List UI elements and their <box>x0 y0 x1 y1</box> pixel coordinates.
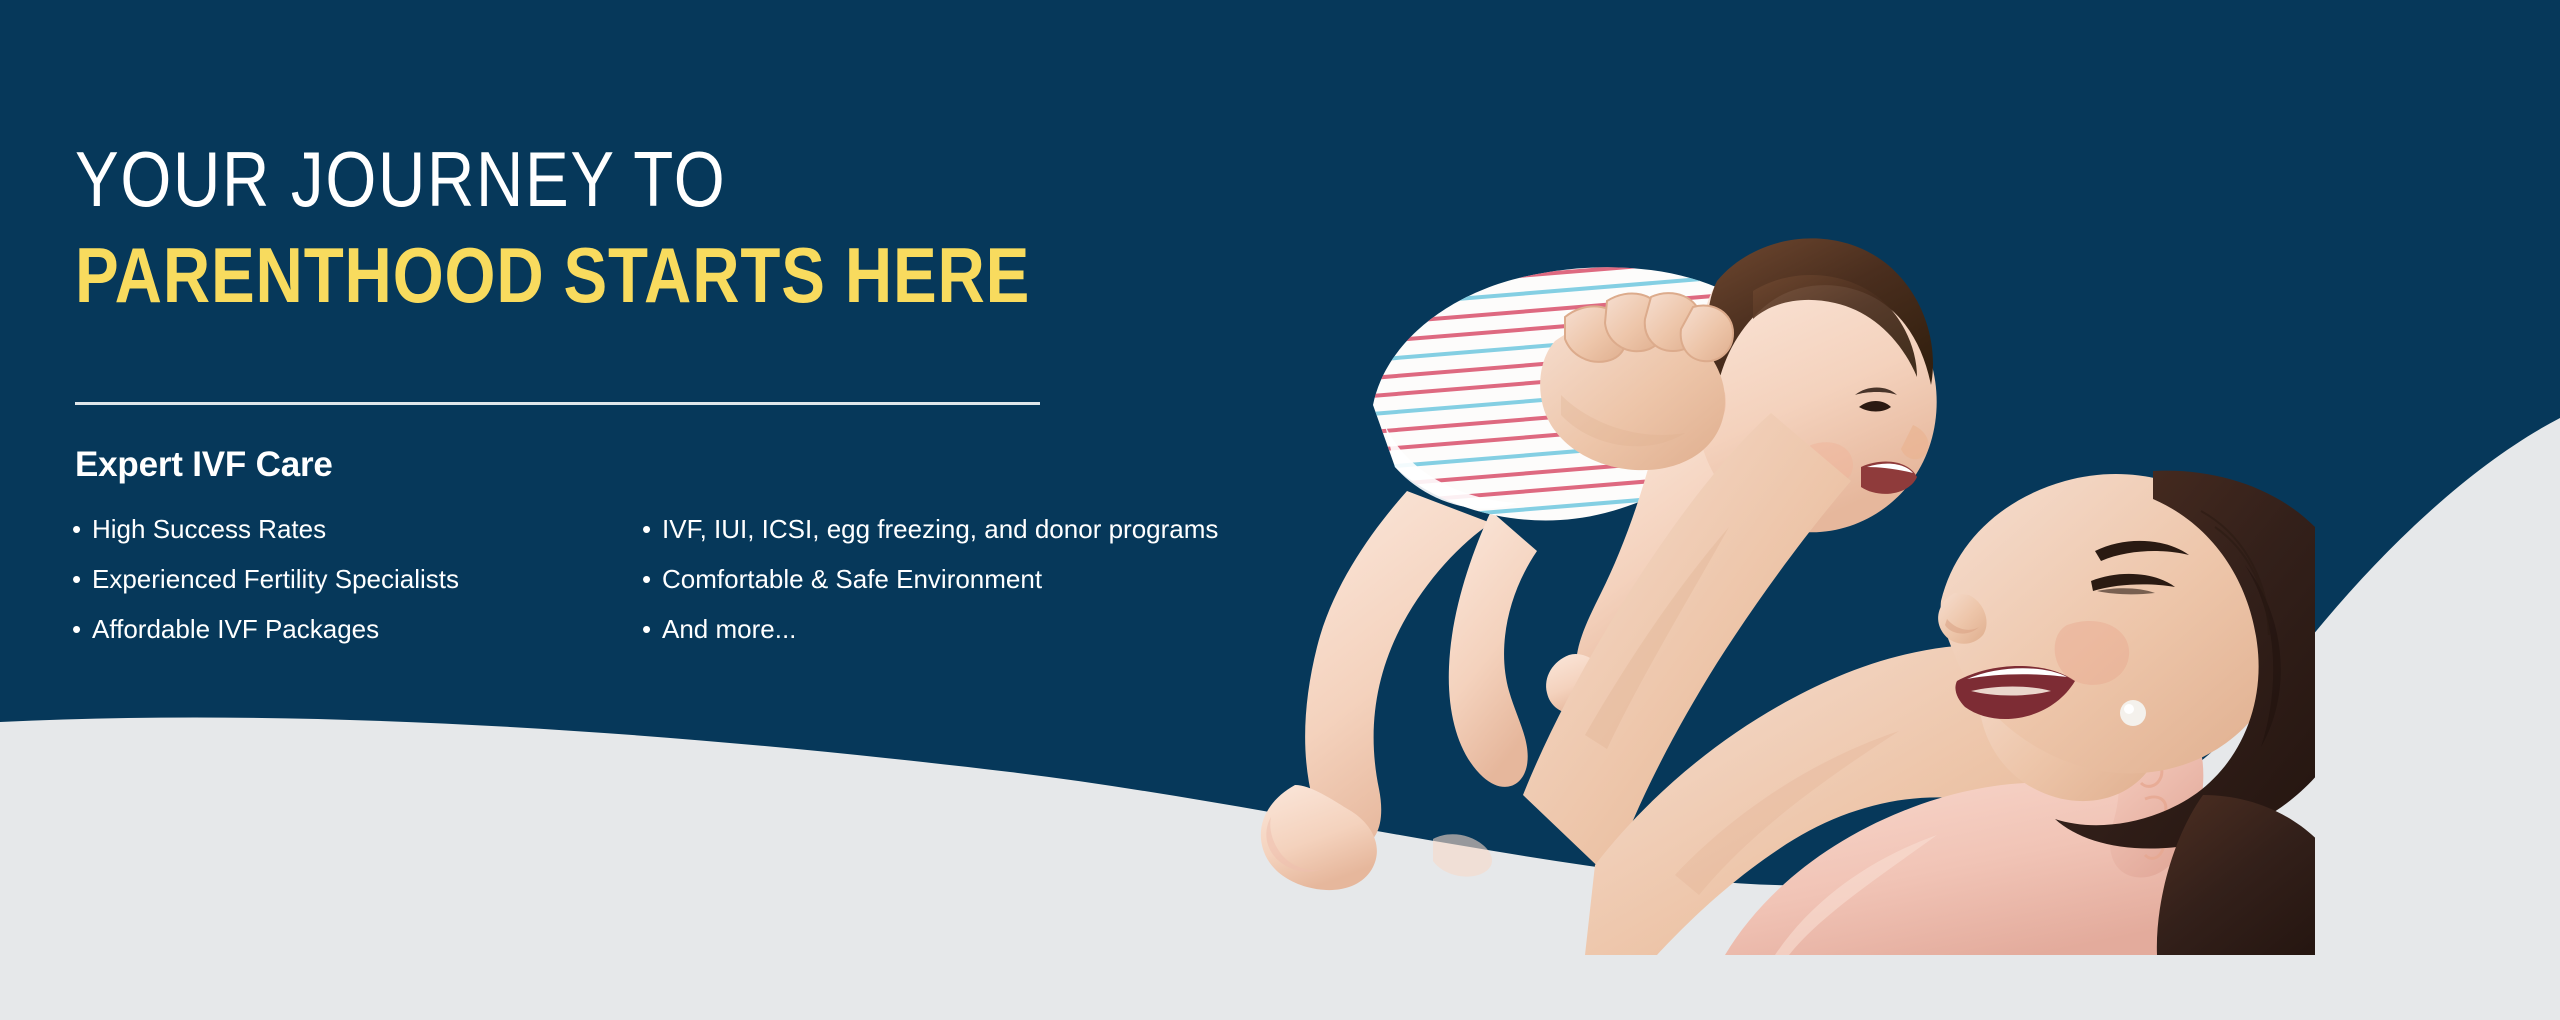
feature-label: Experienced Fertility Specialists <box>92 565 459 595</box>
bullet-icon: • <box>72 515 92 545</box>
hero-copy: YOUR JOURNEY TO PARENTHOOD STARTS HERE <box>75 140 1255 314</box>
feature-label: High Success Rates <box>92 515 326 545</box>
subheading: Expert IVF Care <box>75 445 333 485</box>
headline-divider <box>75 402 1040 405</box>
bullet-icon: • <box>72 615 92 645</box>
feature-label: IVF, IUI, ICSI, egg freezing, and donor … <box>662 515 1218 545</box>
headline-line-2: PARENTHOOD STARTS HERE <box>75 236 1066 314</box>
features-left-column: • High Success Rates • Experienced Ferti… <box>72 515 642 645</box>
feature-label: And more... <box>662 615 796 645</box>
feature-item: • IVF, IUI, ICSI, egg freezing, and dono… <box>642 515 1362 545</box>
bullet-icon: • <box>642 565 662 595</box>
feature-item: • High Success Rates <box>72 515 642 545</box>
feature-item: • Comfortable & Safe Environment <box>642 565 1362 595</box>
features-list: • High Success Rates • Experienced Ferti… <box>72 515 1362 645</box>
bullet-icon: • <box>72 565 92 595</box>
features-right-column: • IVF, IUI, ICSI, egg freezing, and dono… <box>642 515 1362 645</box>
bullet-icon: • <box>642 615 662 645</box>
feature-item: • And more... <box>642 615 1362 645</box>
headline-line-1: YOUR JOURNEY TO <box>75 140 1066 218</box>
feature-label: Comfortable & Safe Environment <box>662 565 1042 595</box>
feature-item: • Experienced Fertility Specialists <box>72 565 642 595</box>
feature-item: • Affordable IVF Packages <box>72 615 642 645</box>
ivf-hero-banner: YOUR JOURNEY TO PARENTHOOD STARTS HERE E… <box>0 0 2560 1020</box>
bullet-icon: • <box>642 515 662 545</box>
feature-label: Affordable IVF Packages <box>92 615 379 645</box>
